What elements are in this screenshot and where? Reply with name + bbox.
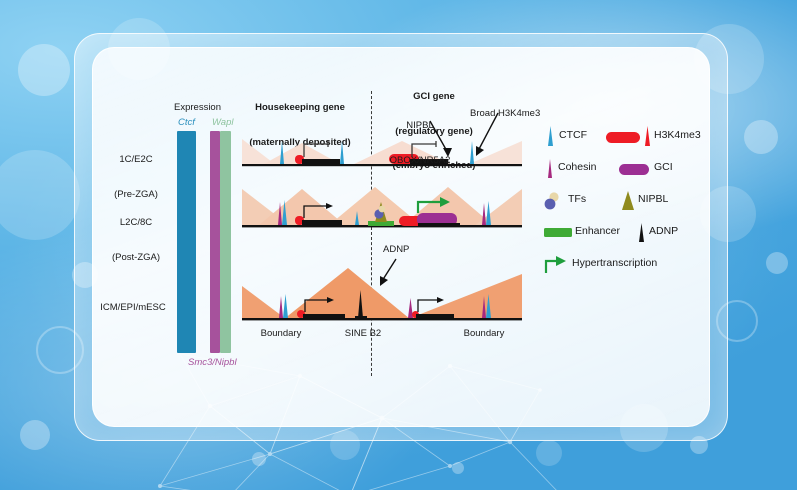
legend-row: CTCF H3K4me3: [544, 125, 714, 147]
stage-label-line: 1C/E2C: [100, 154, 172, 166]
tss-arrow-head: [437, 297, 444, 303]
axis-label-boundary-left: Boundary: [249, 328, 313, 340]
tf-circle: [379, 206, 386, 213]
stage-label-line: ICM/EPI/mESC: [88, 302, 178, 314]
cohesin-peak: [482, 203, 486, 225]
legend-row: Enhancer ADNP: [544, 221, 714, 243]
h3k4me3-peak-icon: [642, 126, 654, 146]
ctcf-peak: [280, 141, 284, 164]
bokeh-circle: [20, 420, 50, 450]
leader-line: [478, 113, 498, 151]
stage-label-line: (Post-ZGA): [100, 252, 172, 264]
callout-leader-lines-row2: [372, 109, 572, 161]
stage-label-line: L2C/8C: [100, 217, 172, 229]
tfs-icon: [544, 191, 562, 210]
expression-bar-smc3: [210, 131, 220, 353]
figure-panel: Housekeeping gene (maternally deposited)…: [92, 47, 708, 425]
legend-label-cohesin: Cohesin: [558, 162, 597, 174]
expression-label-ctcf: Ctcf: [178, 117, 195, 129]
track-row-l2c-8c: [242, 169, 522, 231]
track-svg-l2c-8c: [242, 169, 522, 231]
legend-row: Hypertranscription: [544, 253, 714, 275]
sine-b2-element: [355, 316, 367, 319]
legend-label-nipbl: NIPBL: [638, 194, 668, 206]
legend-label-adnp: ADNP: [649, 226, 678, 238]
chromatin-axis: [242, 318, 522, 320]
axis-label-sine-b2: SINE B2: [331, 328, 395, 340]
axis-label-boundary-right: Boundary: [452, 328, 516, 340]
track-svg-icm-epi-mesc: [242, 262, 522, 324]
legend-row: Cohesin GCI: [544, 157, 714, 179]
ctcf-peak: [486, 201, 491, 225]
gene-body: [303, 314, 345, 318]
bokeh-circle: [18, 44, 70, 96]
hypertranscription-icon: [544, 256, 570, 274]
expression-header: Expression: [174, 102, 221, 114]
ctcf-icon: [544, 126, 558, 146]
gene-body: [418, 223, 460, 226]
callout-adnp: ADNP: [383, 244, 409, 256]
stage-label-l2c-8c: L2C/8C (Post-ZGA): [100, 194, 172, 286]
nipbl-icon: [620, 191, 636, 210]
legend-label-h3k4me3: H3K4me3: [654, 130, 701, 142]
gene-body: [302, 159, 340, 164]
ctcf-peak: [283, 294, 288, 318]
legend-label-enhancer: Enhancer: [575, 226, 620, 238]
gene-body: [416, 314, 454, 318]
cohesin-icon: [544, 159, 556, 178]
track-row-icm-epi-mesc: [242, 262, 522, 324]
tad-domain: [408, 274, 522, 319]
legend-row: TFs NIPBL: [544, 189, 714, 211]
legend-label-ctcf: CTCF: [559, 130, 587, 142]
tad-domain: [474, 189, 522, 226]
gene-body: [302, 220, 342, 225]
adnp-icon: [636, 223, 648, 242]
legend-label-hypertranscription: Hypertranscription: [572, 258, 657, 270]
gci-icon: [619, 163, 649, 176]
legend-label-tfs: TFs: [568, 194, 586, 206]
legend-label-gci: GCI: [654, 162, 673, 174]
expression-label-smc3-nipbl: Smc3/Nipbl: [188, 357, 237, 369]
stage-label-icm-epi-mesc: ICM/EPI/mESC: [88, 279, 178, 337]
enhancer-icon: [544, 227, 572, 239]
ctcf-peak: [340, 141, 344, 164]
column-header-line: Housekeeping gene: [240, 102, 360, 114]
expression-label-wapl: Wapl: [212, 117, 233, 129]
cohesin-peak: [279, 296, 283, 318]
bokeh-circle: [766, 252, 788, 274]
leader-arrow-head: [443, 148, 452, 157]
expression-bar-ctcf: [177, 131, 196, 353]
bokeh-circle: [744, 120, 778, 154]
expression-bar-nipbl: [220, 131, 231, 353]
tss-arrow-head: [326, 203, 333, 209]
h3k4me3-block-icon: [606, 131, 640, 144]
